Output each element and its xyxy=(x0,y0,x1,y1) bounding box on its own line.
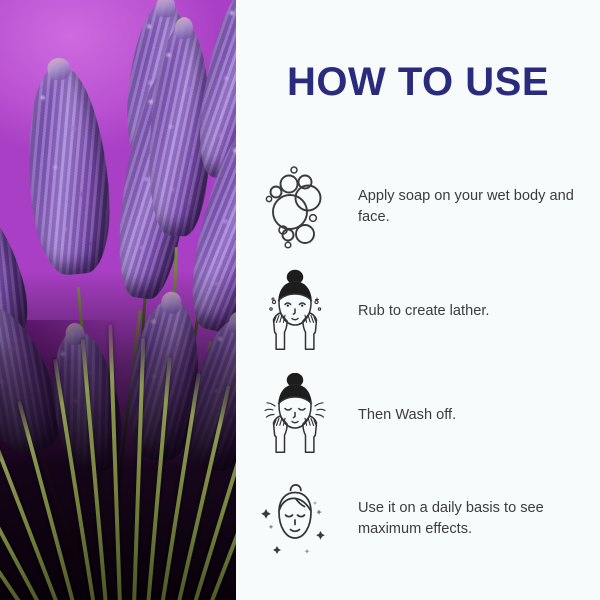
soap-bubbles-icon xyxy=(256,165,334,249)
step-description: Then Wash off. xyxy=(358,405,456,426)
list-item: Apply soap on your wet body and face. xyxy=(256,155,586,259)
list-item: Rub to create lather. xyxy=(256,259,586,363)
steps-list: Apply soap on your wet body and face. xyxy=(256,155,586,571)
step-description: Use it on a daily basis to see maximum e… xyxy=(358,498,586,539)
how-to-use-infographic: HOW TO USE xyxy=(0,0,600,600)
content-panel: HOW TO USE xyxy=(236,0,600,600)
list-item: Use it on a daily basis to see maximum e… xyxy=(256,467,586,571)
face-rub-lather-icon xyxy=(256,269,334,353)
step-description: Apply soap on your wet body and face. xyxy=(358,186,586,227)
page-title: HOW TO USE xyxy=(236,62,600,102)
step-description: Rub to create lather. xyxy=(358,301,489,322)
glowing-face-sparkle-icon xyxy=(256,477,334,561)
face-wash-off-icon xyxy=(256,373,334,457)
lavender-flowers-photo xyxy=(0,0,236,600)
list-item: Then Wash off. xyxy=(256,363,586,467)
